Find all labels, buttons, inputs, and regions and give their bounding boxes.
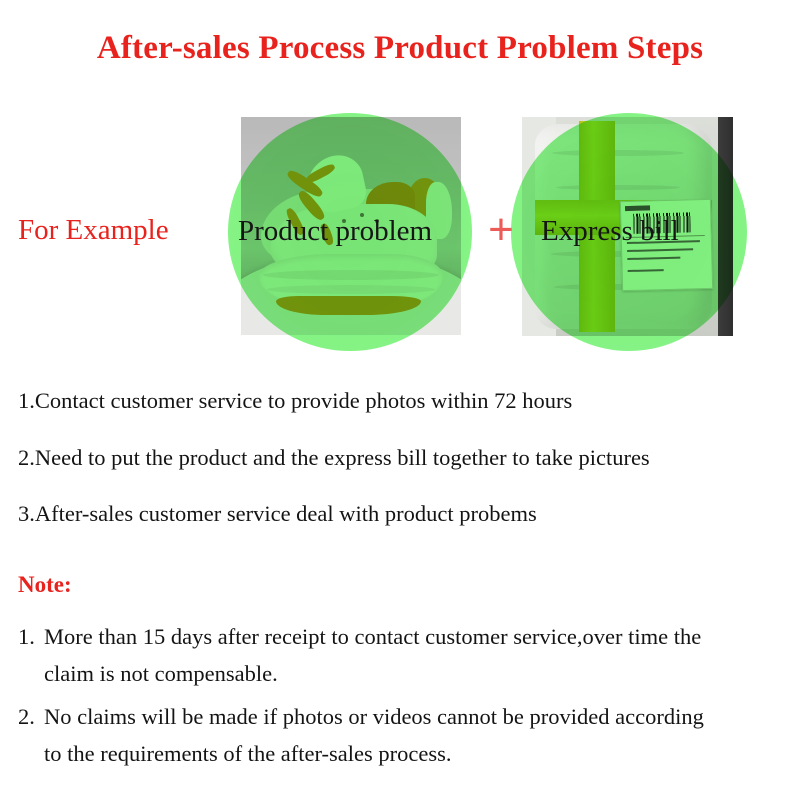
shipping-label-header xyxy=(626,205,651,211)
shipping-label-text-line xyxy=(628,257,681,260)
sneaker-sole-ridge xyxy=(267,285,434,294)
note-list: 1. More than 15 days after receipt to co… xyxy=(18,618,793,778)
step-item-1: 1.Contact customer service to provide ph… xyxy=(18,390,788,413)
note-item-2: 2. No claims will be made if photos or v… xyxy=(18,698,793,772)
note-item-1: 1. More than 15 days after receipt to co… xyxy=(18,618,793,692)
note-item-1-text: More than 15 days after receipt to conta… xyxy=(44,618,793,692)
step-item-2: 2.Need to put the product and the expres… xyxy=(18,447,788,470)
example-section: For Example xyxy=(0,110,800,350)
express-bill-caption: Express bill xyxy=(541,215,679,248)
plus-icon: + xyxy=(482,210,520,250)
note-item-2-text: No claims will be made if photos or vide… xyxy=(44,698,793,772)
note-item-1-marker: 1. xyxy=(18,618,44,655)
shipping-label-text-line xyxy=(628,270,663,273)
parcel-crease xyxy=(552,150,683,156)
step-item-3: 3.After-sales customer service deal with… xyxy=(18,503,788,526)
product-problem-caption: Product problem xyxy=(238,215,432,248)
parcel-crease xyxy=(556,185,680,190)
steps-list: 1.Contact customer service to provide ph… xyxy=(18,390,788,560)
for-example-label: For Example xyxy=(18,214,169,247)
note-heading: Note: xyxy=(18,572,72,598)
note-item-2-marker: 2. xyxy=(18,698,44,735)
page-title: After-sales Process Product Problem Step… xyxy=(0,30,800,67)
note-item-2-line-2: to the requirements of the after-sales p… xyxy=(44,735,793,772)
note-item-1-line-1: More than 15 days after receipt to conta… xyxy=(44,624,701,649)
shipping-label-text-line xyxy=(628,249,694,253)
note-item-2-line-1: No claims will be made if photos or vide… xyxy=(44,704,704,729)
note-item-1-line-2: claim is not compensable. xyxy=(44,655,793,692)
